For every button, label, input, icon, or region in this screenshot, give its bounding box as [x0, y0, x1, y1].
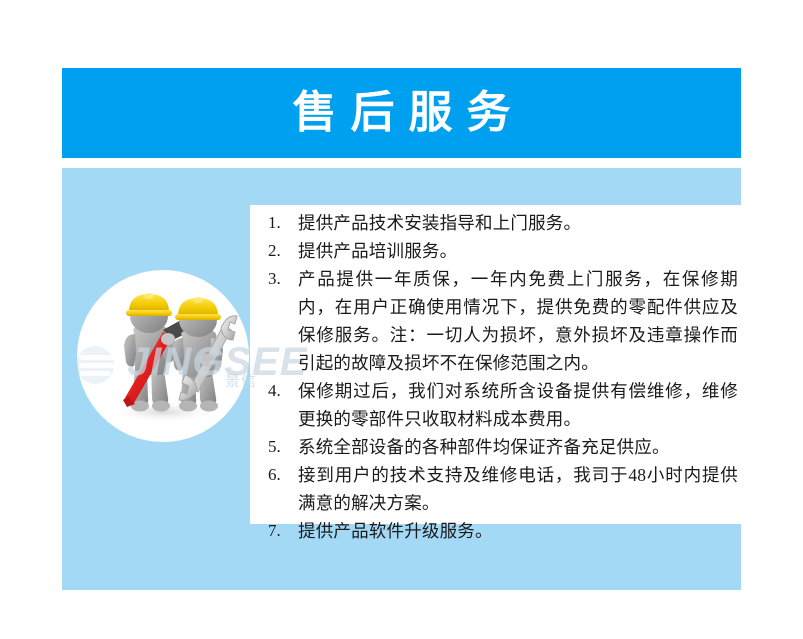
list-item: 3. 产品提供一年质保，一年内免费上门服务，在保修期内，在用户正确使用情况下，提…: [268, 265, 738, 377]
page-title: 售后服务: [279, 91, 525, 135]
list-item: 7. 提供产品软件升级服务。: [268, 517, 738, 545]
list-item-number: 7.: [268, 517, 298, 545]
illustration-circle: [77, 270, 249, 442]
list-item-number: 1.: [268, 209, 298, 237]
list-item-text: 产品提供一年质保，一年内免费上门服务，在保修期内，在用户正确使用情况下，提供免费…: [298, 265, 738, 377]
list-item-text: 系统全部设备的各种部件均保证齐备充足供应。: [298, 433, 738, 461]
list-item-text: 提供产品软件升级服务。: [298, 517, 738, 545]
list-item-number: 4.: [268, 377, 298, 405]
page-root: 售后服务: [0, 0, 803, 639]
two-workers-with-tools-icon: [77, 270, 249, 442]
list-item-number: 6.: [268, 461, 298, 489]
list-item-text: 保修期过后，我们对系统所含设备提供有偿维修，维修更换的零部件只收取材料成本费用。: [298, 377, 738, 433]
list-item-number: 2.: [268, 237, 298, 265]
page-title-banner: 售后服务: [62, 68, 741, 158]
list-item: 2. 提供产品培训服务。: [268, 237, 738, 265]
list-item-text: 提供产品技术安装指导和上门服务。: [298, 209, 738, 237]
list-item-text: 接到用户的技术支持及维修电话，我司于48小时内提供满意的解决方案。: [298, 461, 738, 517]
list-item-number: 3.: [268, 265, 298, 293]
list-item: 1. 提供产品技术安装指导和上门服务。: [268, 209, 738, 237]
list-item: 4. 保修期过后，我们对系统所含设备提供有偿维修，维修更换的零部件只收取材料成本…: [268, 377, 738, 433]
list-item-number: 5.: [268, 433, 298, 461]
list-item-text: 提供产品培训服务。: [298, 237, 738, 265]
list-item: 5. 系统全部设备的各种部件均保证齐备充足供应。: [268, 433, 738, 461]
service-list: 1. 提供产品技术安装指导和上门服务。 2. 提供产品培训服务。 3. 产品提供…: [268, 209, 738, 545]
list-item: 6. 接到用户的技术支持及维修电话，我司于48小时内提供满意的解决方案。: [268, 461, 738, 517]
